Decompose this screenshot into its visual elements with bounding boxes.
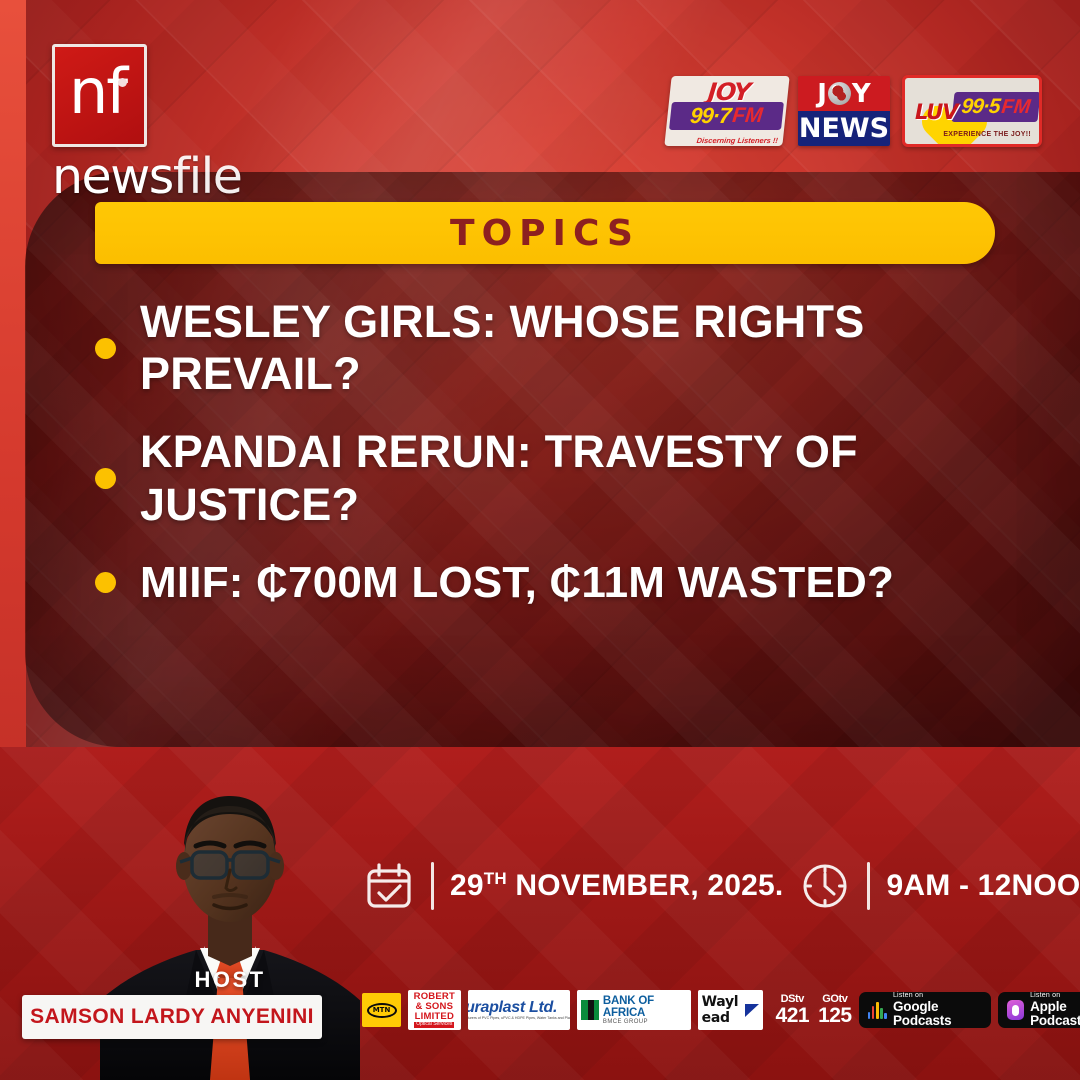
joy-news-y: Y [852, 79, 871, 109]
schedule-row: 29TH NOVEMBER, 2025. 9AM - 12NOON [363, 860, 1080, 912]
topics-banner-label: TOPICS [450, 213, 640, 254]
newsfile-logo-dot [118, 78, 127, 87]
luv-995-band: 99·5 FM [951, 92, 1040, 122]
bank-of-africa-text: BANK OF AFRICA BMCE GROUP [603, 995, 687, 1025]
sponsor-robert-line3: LIMITED [415, 1012, 454, 1022]
newsfile-wordmark: newsfile [52, 148, 241, 205]
topic-text: WESLEY GIRLS: WHOSE RIGHTS PREVAIL? [140, 296, 1030, 400]
divider [867, 862, 870, 910]
sponsor-duraplast-label: Duraplast Ltd. [468, 1000, 571, 1016]
clock-icon [799, 860, 851, 912]
poster-canvas: nf newsfile JOY 99·7 FM Discerning Liste… [0, 0, 1080, 1080]
joy-997-fm-logo: JOY 99·7 FM Discerning Listeners !! [664, 76, 789, 146]
luv-995-band-label: FM [1000, 96, 1031, 119]
joy-news-j: J [817, 79, 827, 109]
schedule-date-ordinal: TH [484, 869, 507, 888]
google-podcasts-text: Listen on Google Podcasts [893, 992, 982, 1028]
sponsor-boa-sub: BMCE GROUP [603, 1019, 687, 1025]
google-podcasts-badge[interactable]: Listen on Google Podcasts [859, 992, 991, 1028]
sponsor-robert-and-sons-logo: ROBERT & SONS LIMITED Optical Services [408, 990, 461, 1030]
list-item: KPANDAI RERUN: TRAVESTY OF JUSTICE? [95, 426, 1055, 530]
joy-997-band: 99·7 FM [669, 102, 784, 130]
sponsor-bank-of-africa-logo: BANK OF AFRICA BMCE GROUP [577, 990, 690, 1030]
topics-banner: TOPICS [95, 202, 995, 264]
joy-997-frequency: 99·7 [689, 103, 732, 129]
sponsor-mtn-mark: MTN [367, 1003, 397, 1018]
luv-995-tagline: EXPERIENCE THE JOY!! [943, 131, 1031, 138]
sponsor-waylead-label: Wayl ead [702, 994, 742, 1026]
divider [431, 862, 434, 910]
newsfile-logo: nf newsfile [52, 44, 202, 194]
station-logo-group: JOY 99·7 FM Discerning Listeners !! JY N… [668, 75, 1042, 147]
tv-channel-group: DStv 421 GOtv 125 [776, 994, 852, 1026]
newsfile-wordmark-light: file [173, 148, 242, 205]
sponsor-duraplast-sub: Manufacturers of PVC Pipes, uPVC & HDPE … [468, 1017, 571, 1021]
joy-997-band-label: FM [731, 104, 764, 128]
globe-icon [828, 82, 851, 105]
list-item: WESLEY GIRLS: WHOSE RIGHTS PREVAIL? [95, 296, 1055, 400]
gotv-number: 125 [818, 1005, 852, 1026]
sponsor-strip: MTN ROBERT & SONS LIMITED Optical Servic… [362, 988, 1080, 1032]
schedule-date: 29TH NOVEMBER, 2025. [450, 869, 783, 903]
luv-995-frequency: 99·5 [960, 95, 1001, 119]
sponsor-duraplast-logo: Duraplast Ltd. Manufacturers of PVC Pipe… [468, 990, 571, 1030]
list-item: MIIF: ₵700M LOST, ₵11M WASTED? [95, 557, 1055, 608]
waylead-triangle-icon [745, 1004, 759, 1017]
bullet-icon [95, 338, 116, 359]
joy-997-word: JOY [669, 78, 790, 105]
host-name: SAMSON LARDY ANYENINI [30, 1005, 314, 1029]
joy-news-bottom: NEWS [798, 111, 890, 146]
topics-list: WESLEY GIRLS: WHOSE RIGHTS PREVAIL? KPAN… [95, 296, 1055, 634]
sponsor-boa-label: BANK OF AFRICA [603, 995, 687, 1019]
schedule-time: 9AM - 12NOON [886, 869, 1080, 903]
bullet-icon [95, 468, 116, 489]
joy-news-logo: JY NEWS [798, 76, 890, 146]
topic-text: MIIF: ₵700M LOST, ₵11M WASTED? [140, 557, 894, 608]
host-role-label: HOST [105, 967, 355, 993]
schedule-date-number: 29 [450, 869, 484, 902]
newsfile-logo-initials: nf [69, 61, 126, 123]
luv-995-fm-logo: LUV 99·5 FM EXPERIENCE THE JOY!! [902, 75, 1042, 147]
bank-of-africa-mark-icon [581, 1000, 598, 1020]
calendar-check-icon [363, 860, 415, 912]
google-podcasts-icon [868, 1002, 887, 1019]
bullet-icon [95, 572, 116, 593]
sponsor-mtn-logo: MTN [362, 993, 401, 1027]
apple-podcasts-icon [1007, 1000, 1024, 1020]
schedule-date-rest: NOVEMBER, 2025. [507, 869, 784, 902]
dstv-number: 421 [776, 1005, 810, 1026]
joy-997-tagline: Discerning Listeners !! [696, 136, 778, 145]
dstv-channel: DStv 421 [776, 994, 810, 1026]
apple-podcasts-badge[interactable]: Listen on Apple Podcasts [998, 992, 1080, 1028]
topic-text: KPANDAI RERUN: TRAVESTY OF JUSTICE? [140, 426, 1030, 530]
joy-news-top: JY [798, 76, 890, 111]
host-name-plate: SAMSON LARDY ANYENINI [22, 995, 322, 1039]
duraplast-text: Duraplast Ltd. Manufacturers of PVC Pipe… [468, 1000, 571, 1021]
gotv-channel: GOtv 125 [818, 994, 852, 1026]
luv-995-word: LUV [915, 100, 958, 124]
apple-podcasts-big: Apple Podcasts [1030, 1000, 1080, 1028]
sponsor-robert-sub: Optical Services [414, 1022, 454, 1027]
apple-podcasts-text: Listen on Apple Podcasts [1030, 992, 1080, 1028]
google-podcasts-big: Google Podcasts [893, 1000, 982, 1028]
newsfile-wordmark-bold: news [52, 148, 173, 205]
sponsor-waylead-logo: Wayl ead [698, 990, 763, 1030]
newsfile-logo-mark: nf [52, 44, 147, 147]
